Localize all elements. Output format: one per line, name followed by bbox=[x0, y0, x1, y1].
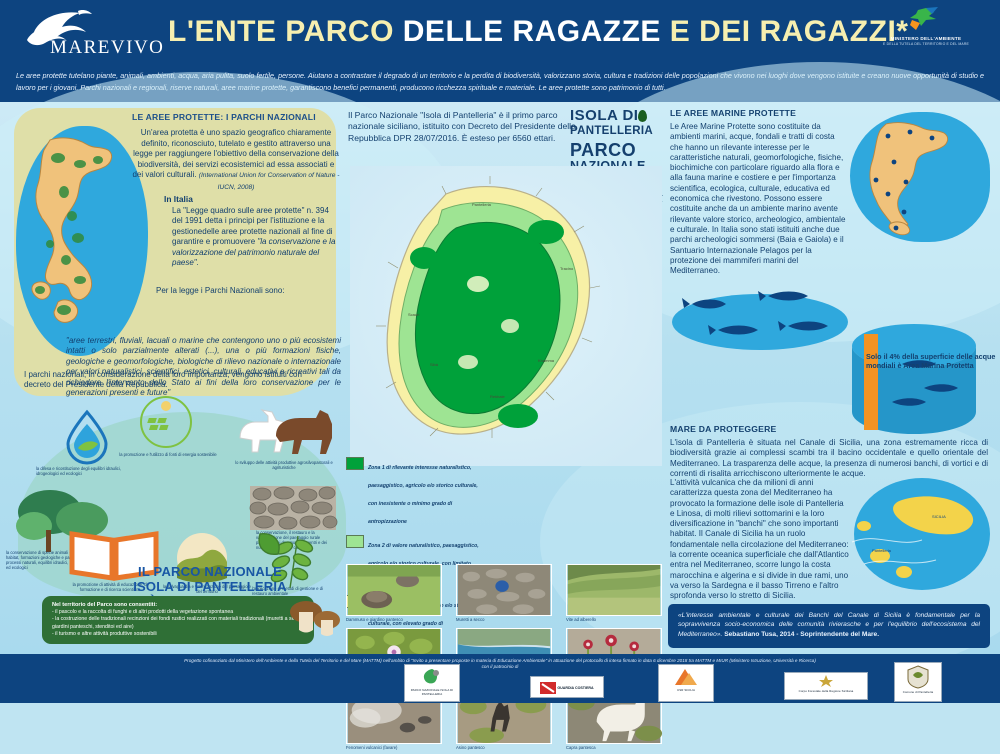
parchi-closing: I parchi nazionali, in considerazione de… bbox=[24, 370, 329, 391]
logo-caption-usr: USR SICILIA bbox=[659, 688, 713, 692]
sicily-channel-map: SICILIAPantelleria bbox=[846, 472, 992, 602]
photo-muretti bbox=[456, 564, 552, 616]
footer-credits: Progetto cofinanziato dal Ministero dell… bbox=[60, 658, 940, 671]
photo-caption-vite: Vite ad alberello bbox=[566, 617, 662, 622]
logo-parco-pantelleria: PARCO NAZIONALE ISOLA DI PANTELLERIA bbox=[404, 664, 460, 702]
ministry-subname: E DELLA TUTELA DEL TERRITORIO E DEL MARE bbox=[866, 42, 986, 47]
logo-comune-pantelleria: Comune di Pantelleria bbox=[894, 662, 942, 702]
stone-wall-icon bbox=[250, 486, 336, 530]
legend-row-zona-1: Zona 1 di rilevante interesse naturalist… bbox=[346, 456, 482, 528]
mushroom-icon bbox=[288, 590, 342, 640]
photo-cell-muretti: Muretti a secco bbox=[456, 564, 552, 622]
quote-author: Sebastiano Tusa, 2014 - Soprintendente d… bbox=[724, 631, 879, 638]
legend-swatch-zona-1 bbox=[346, 457, 364, 470]
amp-title: LE AREE MARINE PROTETTE bbox=[670, 108, 796, 118]
ocean-protection-cylinder-chart bbox=[848, 316, 980, 452]
legend-swatch-zona-2 bbox=[346, 535, 364, 548]
title-part-2: DELLE RAGAZZE bbox=[403, 15, 661, 48]
italia-text: La "Legge quadro sulle aree protette" n.… bbox=[172, 206, 340, 268]
logo-caption-guardia: GUARDIA COSTIERA bbox=[557, 677, 593, 698]
logo-caption-comune: Comune di Pantelleria bbox=[895, 690, 941, 694]
title-part-1: L'ENTE PARCO bbox=[168, 15, 403, 48]
svg-text:Pantelleria: Pantelleria bbox=[872, 548, 892, 553]
amp-statistic: Solo il 4% della superficie delle acque … bbox=[866, 352, 996, 371]
parchi-lead: Per la legge i Parchi Nazionali sono: bbox=[156, 286, 342, 296]
ministry-name: MINISTERO DELL'AMBIENTE bbox=[866, 36, 986, 41]
svg-text:Tracino: Tracino bbox=[560, 266, 574, 271]
footer-logos: PARCO NAZIONALE ISOLA DI PANTELLERIA GUA… bbox=[0, 672, 1000, 702]
footer-line-1: Progetto cofinanziato dal Ministero dell… bbox=[184, 658, 816, 663]
svg-text:Pantelleria: Pantelleria bbox=[472, 202, 492, 207]
logo-text-isola-di: ISOLA DI bbox=[570, 107, 638, 124]
consentiti-title: Nel territorio del Parco sono consentiti… bbox=[52, 602, 304, 609]
svg-text:Sibà: Sibà bbox=[430, 362, 439, 367]
logo-caption-forestale: Corpo Forestale della Regione Siciliana bbox=[785, 689, 867, 693]
water-drop-caption: la difesa e ricostituzione degli equilib… bbox=[36, 466, 136, 476]
poster-title: L'ENTE PARCO DELLE RAGAZZE E DEI RAGAZZI… bbox=[168, 8, 858, 56]
definition-source: (International Union for Conservation of… bbox=[199, 172, 340, 191]
header: MAREVIVO L'ENTE PARCO DELLE RAGAZZE E DE… bbox=[0, 0, 1000, 62]
photo-caption-capra: Capra pantesca bbox=[566, 745, 662, 750]
left-panel: LE AREE PROTETTE: I PARCHI NAZIONALI Un'… bbox=[14, 108, 336, 396]
ministry-logo: MINISTERO DELL'AMBIENTE E DELLA TUTELA D… bbox=[866, 6, 986, 58]
consentiti-item-1: - il pascolo e la raccolta di funghi e d… bbox=[52, 609, 304, 616]
solar-panel-icon bbox=[138, 396, 194, 448]
photo-caption-muretti: Muretti a secco bbox=[456, 617, 552, 622]
solar-panel-caption: la promozione e l'utilizzo di fonti di e… bbox=[116, 452, 220, 457]
pantelleria-intro: Il Parco Nazionale "Isola di Pantelleria… bbox=[348, 110, 576, 144]
footer-line-2: con il patrocinio di bbox=[482, 664, 519, 669]
photo-caption-dammuso: Dammuso e giardino pantesco bbox=[346, 617, 442, 622]
svg-text:SICILIA: SICILIA bbox=[932, 514, 946, 519]
logo-corpo-forestale: Corpo Forestale della Regione Siciliana bbox=[784, 672, 868, 700]
mare-paragraph-2: L'attività vulcanica che da milioni di a… bbox=[670, 478, 850, 602]
logo-guardia-costiera: GUARDIA COSTIERA bbox=[530, 676, 604, 698]
poster-body: LE AREE PROTETTE: I PARCHI NAZIONALI Un'… bbox=[0, 102, 1000, 654]
photo-cell-vite: Vite ad alberello bbox=[566, 564, 662, 622]
water-drop-icon bbox=[64, 410, 110, 464]
legend-zone-1-desc: di rilevante interesse naturalistico, pa… bbox=[368, 465, 478, 525]
logo-caption-parco: PARCO NAZIONALE ISOLA DI PANTELLERIA bbox=[405, 688, 459, 696]
consentiti-box: Nel territorio del Parco sono consentiti… bbox=[42, 596, 314, 644]
svg-text:Rekhale: Rekhale bbox=[490, 394, 505, 399]
marevivo-wordmark: MAREVIVO bbox=[50, 37, 164, 59]
legend-zone-1-label: Zona 1 bbox=[368, 465, 385, 471]
svg-text:Khamma: Khamma bbox=[538, 358, 555, 363]
center-panel: Il Parco Nazionale "Isola di Pantelleria… bbox=[344, 106, 662, 654]
headline-line-1: IL PARCO NAZIONALE bbox=[90, 564, 330, 579]
consentiti-item-3: - il turismo e altre attività produttive… bbox=[52, 631, 304, 638]
livestock-caption: lo sviluppo delle attività produttive ag… bbox=[232, 460, 336, 470]
pantelleria-zoning-map: PantelleriaTracino ScauriRekhale KhammaS… bbox=[350, 166, 662, 466]
parchi-lead-text: Per la legge i Parchi Nazionali sono: bbox=[156, 286, 285, 295]
marevivo-logo: MAREVIVO bbox=[22, 6, 172, 58]
italia-heading: In Italia bbox=[164, 194, 193, 204]
italy-amp-map-icon bbox=[864, 120, 974, 236]
quote-box: «L'interesse ambientale e culturale dei … bbox=[668, 604, 990, 648]
livestock-icon bbox=[228, 402, 340, 462]
photo-cell-dammuso: Dammuso e giardino pantesco bbox=[346, 564, 442, 622]
left-panel-title: LE AREE PROTETTE: I PARCHI NAZIONALI bbox=[132, 112, 332, 122]
svg-text:Scauri: Scauri bbox=[408, 312, 419, 317]
logo-line-2: PANTELLERIA bbox=[570, 126, 662, 138]
logo-line-1: ISOLA DI bbox=[570, 108, 662, 123]
fish-group-icon bbox=[672, 282, 848, 352]
photo-caption-favare: Fenomeni vulcanici (favare) bbox=[346, 745, 442, 750]
logo-line-3: PARCO bbox=[570, 141, 662, 159]
legend-text-zona-1: Zona 1 di rilevante interesse naturalist… bbox=[368, 465, 478, 525]
legend-zone-2-label: Zona 2 bbox=[368, 543, 385, 549]
photo-vite bbox=[566, 564, 662, 616]
logo-usr-sicilia: USR SICILIA bbox=[658, 664, 714, 702]
italy-map-icon bbox=[28, 134, 136, 339]
poster: MAREVIVO L'ENTE PARCO DELLE RAGAZZE E DE… bbox=[0, 0, 1000, 703]
photo-dammuso bbox=[346, 564, 442, 616]
footer: Progetto cofinanziato dal Ministero dell… bbox=[0, 654, 1000, 703]
olive-dot-icon bbox=[638, 110, 647, 122]
photo-caption-asino: Asino pantesco bbox=[456, 745, 552, 750]
consentiti-item-2: - la costruzione delle tradizionali reci… bbox=[52, 616, 304, 630]
green-scene: la difesa e ricostituzione degli equilib… bbox=[6, 394, 342, 646]
left-definition: Un'area protetta è uno spazio geografico… bbox=[132, 128, 340, 194]
mare-title: MARE DA PROTEGGERE bbox=[670, 424, 776, 434]
right-panel: LE AREE MARINE PROTETTE Le Aree Marine P… bbox=[668, 106, 990, 654]
ministry-emblem-icon bbox=[866, 6, 986, 36]
amp-text: Le Aree Marine Protette sono costituite … bbox=[670, 122, 848, 276]
